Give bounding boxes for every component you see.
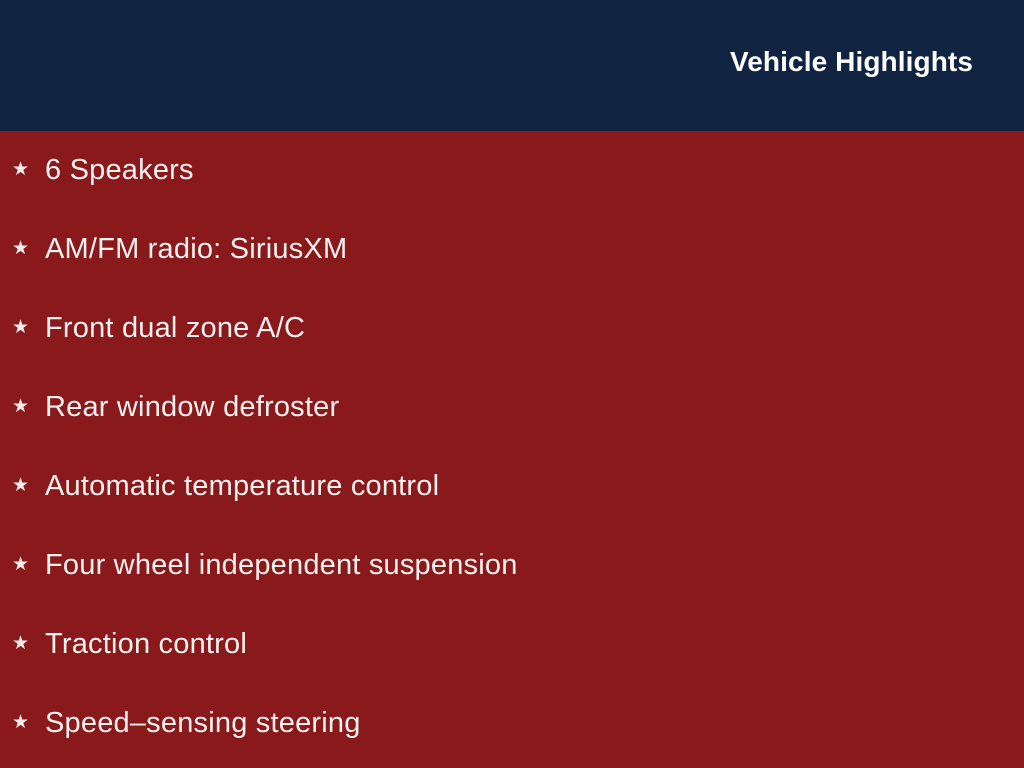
star-icon: ★ bbox=[12, 634, 34, 653]
list-item: ★ Rear window defroster bbox=[0, 368, 1024, 447]
slide-body: ★ 6 Speakers ★ AM/FM radio: SiriusXM ★ F… bbox=[0, 131, 1024, 768]
list-item-label: Automatic temperature control bbox=[45, 471, 439, 503]
star-icon: ★ bbox=[12, 318, 34, 337]
list-item: ★ AM/FM radio: SiriusXM bbox=[0, 210, 1024, 289]
slide-header: Vehicle Highlights bbox=[0, 0, 1024, 131]
vehicle-highlights-slide: Vehicle Highlights ★ 6 Speakers ★ AM/FM … bbox=[0, 0, 1024, 768]
list-item-label: Traction control bbox=[45, 629, 247, 661]
list-item: ★ 6 Speakers bbox=[0, 131, 1024, 210]
list-item-label: Speed–sensing steering bbox=[45, 708, 361, 740]
vehicle-feature-list: ★ 6 Speakers ★ AM/FM radio: SiriusXM ★ F… bbox=[0, 131, 1024, 763]
list-item-label: Front dual zone A/C bbox=[45, 313, 305, 345]
list-item: ★ Speed–sensing steering bbox=[0, 684, 1024, 763]
list-item-label: AM/FM radio: SiriusXM bbox=[45, 234, 347, 266]
page-title: Vehicle Highlights bbox=[730, 48, 973, 76]
list-item: ★ Automatic temperature control bbox=[0, 447, 1024, 526]
star-icon: ★ bbox=[12, 713, 34, 732]
list-item-label: 6 Speakers bbox=[45, 155, 194, 187]
list-item-label: Four wheel independent suspension bbox=[45, 550, 518, 582]
star-icon: ★ bbox=[12, 160, 34, 179]
list-item: ★ Front dual zone A/C bbox=[0, 289, 1024, 368]
star-icon: ★ bbox=[12, 476, 34, 495]
star-icon: ★ bbox=[12, 555, 34, 574]
star-icon: ★ bbox=[12, 239, 34, 258]
list-item: ★ Four wheel independent suspension bbox=[0, 526, 1024, 605]
star-icon: ★ bbox=[12, 397, 34, 416]
list-item-label: Rear window defroster bbox=[45, 392, 339, 424]
list-item: ★ Traction control bbox=[0, 605, 1024, 684]
